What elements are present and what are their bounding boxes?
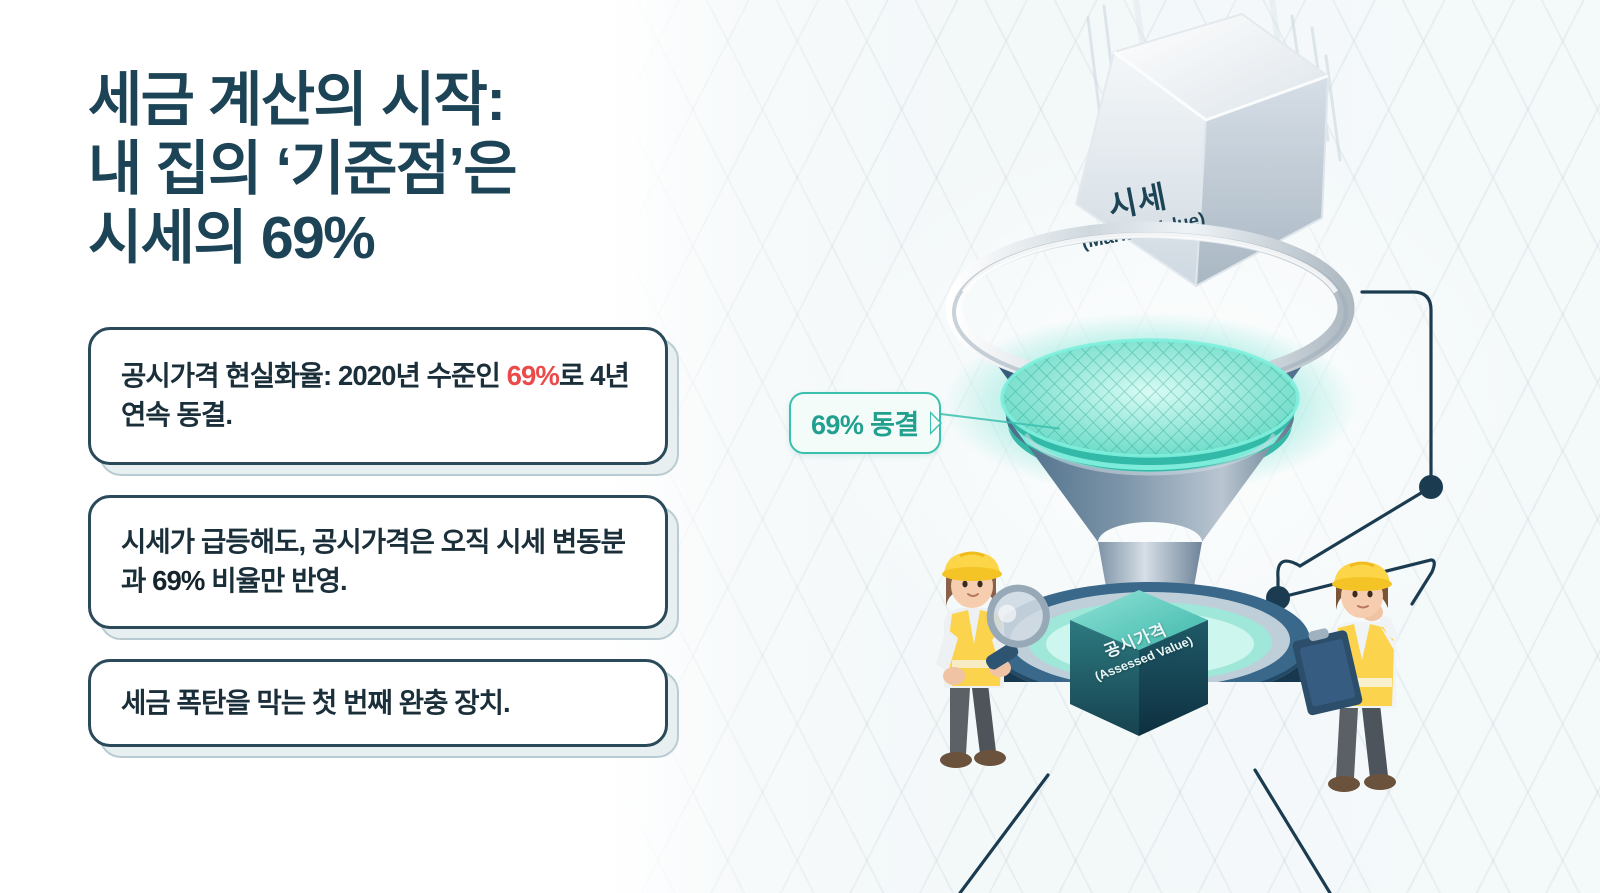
- worker-with-magnifier-icon: [900, 548, 1050, 780]
- assessed-value-cube: [1058, 586, 1220, 756]
- freeze-callout-badge[interactable]: 69% 동결: [789, 392, 941, 454]
- infographic-stage: 세금 계산의 시작: 내 집의 ‘기준점’은 시세의 69% 공시가격 현실화율…: [0, 0, 1600, 893]
- callout-text: 69% 동결: [811, 410, 919, 440]
- node-dot: [1419, 475, 1443, 499]
- worker-with-clipboard-icon: [1288, 556, 1436, 802]
